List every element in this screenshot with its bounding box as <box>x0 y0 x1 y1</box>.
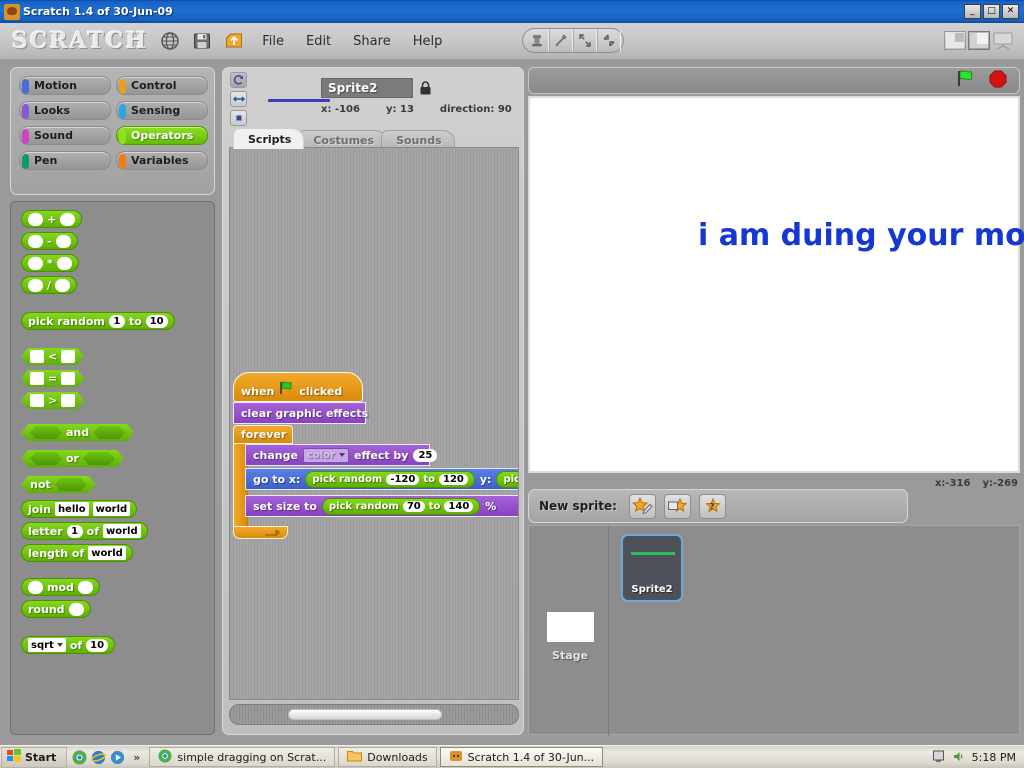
presentation-mode-icon[interactable] <box>992 31 1014 50</box>
scratch-logo: SCRATCH <box>12 28 148 54</box>
system-tray: 5:18 PM <box>924 747 1024 768</box>
shrink-icon[interactable] <box>597 30 621 51</box>
internet-explorer-icon[interactable] <box>91 750 106 765</box>
import-sprite-icon[interactable] <box>664 494 691 519</box>
block-label: to <box>129 315 142 328</box>
new-sprite-bar: New sprite: ? <box>528 489 908 523</box>
start-label: Start <box>25 751 56 764</box>
block-label: not <box>30 478 51 491</box>
sprite-list-thumbnail <box>631 552 675 555</box>
block-label: go to x: <box>253 473 300 486</box>
chevron-down-icon <box>57 643 63 647</box>
go-to-xy-block[interactable]: go to x: pick random -120 to 120 y: pick… <box>245 468 519 490</box>
join-first-input[interactable]: hello <box>55 502 89 516</box>
category-variables[interactable]: Variables <box>116 151 208 170</box>
block-label: change <box>253 449 298 462</box>
operand-slot[interactable] <box>56 235 71 248</box>
block-label: mod <box>47 581 74 594</box>
volume-icon[interactable] <box>952 748 965 767</box>
pick-random-block-x[interactable]: pick random -120 to 120 <box>305 471 474 488</box>
taskbar-button-browser[interactable]: simple dragging on Scrat... <box>149 747 335 767</box>
operand-slot[interactable] <box>28 235 43 248</box>
operator-symbol: * <box>47 257 53 270</box>
block-palette[interactable]: + - * / pick random 1 to <box>10 201 215 735</box>
tab-scripts[interactable]: Scripts <box>233 128 304 149</box>
operand-slot[interactable] <box>78 581 93 594</box>
boolean-slot[interactable] <box>30 426 62 439</box>
windows-logo-icon <box>7 749 21 765</box>
sprite-direction: direction: 90 <box>440 104 512 115</box>
operand-slot[interactable] <box>60 213 75 226</box>
monitor-icon[interactable] <box>932 748 945 767</box>
function-dropdown[interactable]: sqrt <box>28 638 66 652</box>
sprite-list-label: Sprite2 <box>631 584 672 595</box>
change-effect-block[interactable]: change color effect by 25 <box>245 444 430 466</box>
random-from-input[interactable]: -120 <box>386 474 419 485</box>
block-label: effect by <box>354 449 408 462</box>
category-label: Looks <box>34 104 70 117</box>
block-label: to <box>423 474 435 485</box>
length-string-input[interactable]: world <box>88 546 126 560</box>
category-label: Sensing <box>131 104 180 117</box>
random-from-input[interactable]: 70 <box>403 501 425 512</box>
block-label: to <box>429 501 441 512</box>
window-title: Scratch 1.4 of 30-Jun-09 <box>23 5 173 18</box>
join-block[interactable]: join hello world <box>21 500 137 518</box>
category-pen[interactable]: Pen <box>19 151 111 170</box>
overflow-chevron-icon[interactable]: » <box>129 751 144 764</box>
letter-string-input[interactable]: world <box>103 524 141 538</box>
grow-icon[interactable] <box>573 30 597 51</box>
chrome-icon <box>158 749 172 766</box>
sprite-coordinates: x: -106 y: 13 direction: 90 <box>321 104 512 115</box>
script-horizontal-scrollbar[interactable] <box>229 704 519 725</box>
pick-random-block[interactable]: pick random 1 to 10 <box>21 312 175 330</box>
maximize-button[interactable]: □ <box>983 4 1000 19</box>
lock-icon[interactable] <box>419 80 432 96</box>
category-label: Sound <box>34 129 73 142</box>
block-label: % <box>485 500 496 513</box>
subtract-block[interactable]: - <box>21 232 78 250</box>
block-label: or <box>66 452 79 465</box>
greater-than-block[interactable]: > <box>21 392 84 409</box>
sqrt-of-block[interactable]: sqrt of 10 <box>21 636 115 654</box>
block-category-panel: Motion Control Looks Sensing Sound Opera… <box>10 67 215 195</box>
set-size-block[interactable]: set size to pick random 70 to 140 % <box>245 495 519 517</box>
operand-slot[interactable] <box>61 394 75 407</box>
block-label: pick random <box>28 315 105 328</box>
operand-slot[interactable] <box>55 279 70 292</box>
scripts-pane: Sprite2 x: -106 y: 13 direction: 90 <box>222 67 524 735</box>
random-to-input[interactable]: 120 <box>439 474 468 485</box>
category-sound[interactable]: Sound <box>19 126 111 145</box>
scrollbar-thumb[interactable] <box>288 709 442 720</box>
rotate-freely-icon[interactable] <box>230 72 247 88</box>
category-swatch <box>119 79 126 94</box>
scratch-cat-icon <box>449 749 463 766</box>
surprise-sprite-icon[interactable]: ? <box>699 494 726 519</box>
view-mode-group <box>944 29 1014 52</box>
sprite-x: x: -106 <box>321 104 360 115</box>
category-label: Motion <box>34 79 77 92</box>
block-label: pick ra <box>503 474 519 485</box>
block-label: of <box>70 639 82 652</box>
effect-dropdown-value: color <box>307 450 335 461</box>
window-controls: _ □ ✕ <box>964 4 1022 19</box>
operand-slot[interactable] <box>28 213 43 226</box>
round-block[interactable]: round <box>21 600 91 618</box>
block-label: when <box>241 385 274 398</box>
taskbar-button-label: Scratch 1.4 of 30-Jun... <box>468 751 594 764</box>
taskbar-button-scratch[interactable]: Scratch 1.4 of 30-Jun... <box>440 747 603 767</box>
stage-sprite-text: i am duing your mo <box>698 218 1024 253</box>
category-label: Variables <box>131 154 189 167</box>
category-swatch <box>119 154 126 169</box>
multiply-block[interactable]: * <box>21 254 79 272</box>
menu-help[interactable]: Help <box>413 34 443 49</box>
category-swatch <box>119 129 126 144</box>
join-second-input[interactable]: world <box>93 502 131 516</box>
boolean-slot[interactable] <box>93 426 125 439</box>
stage-thumbnail <box>547 612 594 642</box>
normal-stage-icon[interactable] <box>968 31 990 50</box>
category-label: Operators <box>131 129 193 142</box>
letter-of-block[interactable]: letter 1 of world <box>21 522 148 540</box>
forever-foot <box>233 526 288 539</box>
media-player-icon[interactable] <box>110 750 125 765</box>
less-than-block[interactable]: < <box>21 348 84 365</box>
small-stage-icon[interactable] <box>944 31 966 50</box>
operand-slot[interactable] <box>69 603 84 616</box>
operand-slot[interactable] <box>30 350 44 363</box>
share-upload-icon[interactable] <box>224 31 244 51</box>
sprite-list-pane[interactable]: Stage Sprite2 <box>528 525 1020 735</box>
random-from-input[interactable]: 1 <box>109 315 125 328</box>
sprite-info-header: Sprite2 x: -106 y: 13 direction: 90 <box>223 68 525 148</box>
chrome-icon[interactable] <box>72 750 87 765</box>
operand-slot[interactable] <box>30 394 44 407</box>
block-label: forever <box>241 428 286 441</box>
scratch-cat-icon <box>4 4 20 20</box>
category-label: Pen <box>34 154 57 167</box>
effect-dropdown[interactable]: color <box>303 448 349 463</box>
block-label: pick random <box>329 501 399 512</box>
green-flag-icon[interactable] <box>956 70 975 91</box>
close-button[interactable]: ✕ <box>1002 4 1019 19</box>
sqrt-value-input[interactable]: 10 <box>86 639 108 652</box>
block-label: y: <box>480 473 492 486</box>
operand-slot[interactable] <box>57 257 72 270</box>
random-to-input[interactable]: 10 <box>146 315 168 328</box>
mouse-x: x:-316 <box>935 478 970 489</box>
script-canvas[interactable]: when clicked clear graphic effects forev… <box>229 147 519 700</box>
paint-new-sprite-icon[interactable] <box>629 494 656 519</box>
svg-text:?: ? <box>709 502 714 512</box>
block-label: clear graphic effects <box>241 407 368 420</box>
pick-random-block-size[interactable]: pick random 70 to 140 <box>322 498 480 515</box>
globe-icon[interactable] <box>160 31 180 51</box>
function-dropdown-value: sqrt <box>31 640 54 651</box>
operand-slot[interactable] <box>30 372 44 385</box>
mod-block[interactable]: mod <box>21 578 100 596</box>
no-rotation-icon[interactable] <box>230 110 247 126</box>
block-label: and <box>66 426 89 439</box>
equals-block[interactable]: = <box>21 370 84 387</box>
delete-scissors-icon[interactable] <box>549 30 573 51</box>
menu-share[interactable]: Share <box>353 34 391 49</box>
sprite-thumbnail-image <box>268 99 330 102</box>
taskbar-clock: 5:18 PM <box>972 751 1016 764</box>
operand-slot[interactable] <box>28 257 43 270</box>
menu-items: File Edit Share Help <box>262 34 442 49</box>
start-button[interactable]: Start <box>1 747 67 768</box>
category-motion[interactable]: Motion <box>19 76 111 95</box>
menu-file[interactable]: File <box>262 34 284 49</box>
rotation-style-buttons <box>230 72 247 126</box>
category-sensing[interactable]: Sensing <box>116 101 208 120</box>
boolean-slot[interactable] <box>30 452 62 465</box>
menubar: SCRATCH File Edit Share Help <box>0 23 1024 59</box>
sprite-name-field[interactable]: Sprite2 <box>321 78 413 98</box>
left-right-flip-icon[interactable] <box>230 91 247 107</box>
new-sprite-label: New sprite: <box>539 499 617 513</box>
category-control[interactable]: Control <box>116 76 208 95</box>
sprite-y: y: 13 <box>386 104 414 115</box>
clear-graphic-effects-block[interactable]: clear graphic effects <box>233 402 366 424</box>
when-green-flag-clicked-block[interactable]: when clicked <box>233 372 363 402</box>
taskbar-button-label: Downloads <box>367 751 427 764</box>
taskbar-button-downloads[interactable]: Downloads <box>338 747 436 767</box>
block-label: letter <box>28 525 63 538</box>
sprite-pane-divider <box>608 526 609 736</box>
divide-block[interactable]: / <box>21 276 77 294</box>
quick-launch-bar: » <box>67 750 149 765</box>
block-label: length of <box>28 547 84 560</box>
and-block[interactable]: and <box>21 424 134 441</box>
letter-index-input[interactable]: 1 <box>67 525 83 538</box>
category-operators[interactable]: Operators <box>116 126 208 145</box>
boolean-slot[interactable] <box>55 478 87 491</box>
block-label: clicked <box>299 385 342 398</box>
window-titlebar: Scratch 1.4 of 30-Jun-09 _ □ ✕ <box>0 0 1024 23</box>
block-label: round <box>28 603 65 616</box>
folder-icon <box>347 749 362 765</box>
category-swatch <box>22 154 29 169</box>
save-icon[interactable] <box>192 31 212 51</box>
stop-sign-icon[interactable] <box>989 70 1007 92</box>
sprite-tabs: Scripts Costumes Sounds <box>233 128 449 149</box>
mouse-y: y:-269 <box>982 478 1018 489</box>
length-of-block[interactable]: length of world <box>21 544 133 562</box>
minimize-button[interactable]: _ <box>964 4 981 19</box>
stage-control-bar <box>528 67 1020 94</box>
operator-symbol: = <box>48 372 57 385</box>
category-swatch <box>22 129 29 144</box>
sprite-list-item[interactable]: Sprite2 <box>621 534 683 602</box>
mouse-coordinates: x:-316 y:-269 <box>935 478 1018 489</box>
operator-symbol: / <box>47 279 51 292</box>
operand-slot[interactable] <box>28 581 43 594</box>
operator-symbol: < <box>48 350 57 363</box>
forever-label[interactable]: forever <box>233 425 293 444</box>
or-block[interactable]: or <box>21 450 124 467</box>
random-to-input[interactable]: 140 <box>444 501 473 512</box>
forever-block[interactable]: forever <box>233 425 293 444</box>
block-label: set size to <box>253 500 317 513</box>
operand-slot[interactable] <box>61 350 75 363</box>
operand-slot[interactable] <box>61 372 75 385</box>
operator-symbol: > <box>48 394 57 407</box>
block-label: pick random <box>312 474 382 485</box>
category-swatch <box>22 79 29 94</box>
effect-amount-input[interactable]: 25 <box>413 449 437 462</box>
add-block[interactable]: + <box>21 210 82 228</box>
block-label: of <box>87 525 99 538</box>
stage-canvas[interactable]: i am duing your mo <box>528 96 1020 473</box>
boolean-slot[interactable] <box>83 452 115 465</box>
menu-edit[interactable]: Edit <box>306 34 331 49</box>
category-label: Control <box>131 79 176 92</box>
block-label: join <box>28 503 51 516</box>
windows-taskbar: Start » simple dragging on Scrat... <box>0 745 1024 768</box>
category-swatch <box>119 104 126 119</box>
edit-tools-group <box>522 28 624 53</box>
not-block[interactable]: not <box>21 476 96 493</box>
stage-label: Stage <box>552 649 588 662</box>
operator-symbol: - <box>47 235 52 248</box>
category-looks[interactable]: Looks <box>19 101 111 120</box>
duplicate-stamp-icon[interactable] <box>525 30 549 51</box>
chevron-down-icon <box>339 453 345 457</box>
taskbar-button-label: simple dragging on Scrat... <box>177 751 326 764</box>
operator-symbol: + <box>47 213 56 226</box>
category-swatch <box>22 104 29 119</box>
green-flag-icon <box>279 381 294 398</box>
pick-random-block-y[interactable]: pick ra <box>496 471 519 488</box>
stage-list-item[interactable]: Stage <box>535 532 605 662</box>
scratch-application: SCRATCH File Edit Share Help <box>0 23 1024 745</box>
operand-slot[interactable] <box>28 279 43 292</box>
